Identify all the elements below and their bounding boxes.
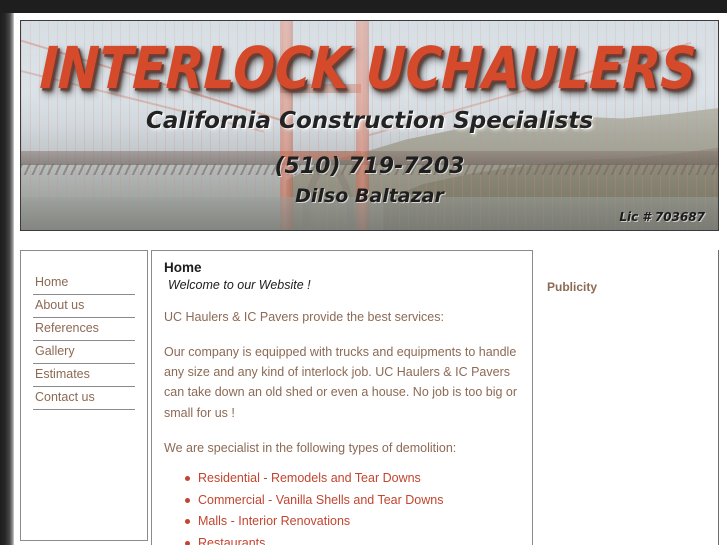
- company-tagline: California Construction Specialists: [21, 108, 718, 134]
- banner-text-group: INTERLOCK UCHAULERS California Construct…: [21, 21, 718, 230]
- list-item: Restaurants: [198, 533, 522, 545]
- paragraph-demolition-intro: We are specialist in the following types…: [164, 438, 522, 458]
- content-row: Home About us References Gallery Estimat…: [20, 250, 719, 545]
- browser-chrome-top-edge: [0, 0, 727, 13]
- browser-chrome-left-edge: [0, 0, 14, 545]
- sidebar-item-references[interactable]: References: [33, 318, 135, 341]
- site-banner: INTERLOCK UCHAULERS California Construct…: [20, 20, 719, 231]
- company-owner-name: Dilso Baltazar: [21, 185, 718, 207]
- welcome-text: Welcome to our Website !: [168, 278, 522, 292]
- sidebar-item-contact-us[interactable]: Contact us: [33, 387, 135, 410]
- publicity-heading: Publicity: [547, 280, 718, 294]
- company-name-heading: INTERLOCK UCHAULERS: [20, 35, 718, 102]
- paragraph-services-intro: UC Haulers & IC Pavers provide the best …: [164, 307, 522, 327]
- sidebar-item-estimates[interactable]: Estimates: [33, 364, 135, 387]
- sidebar-navigation: Home About us References Gallery Estimat…: [20, 250, 148, 541]
- nav-list: Home About us References Gallery Estimat…: [21, 251, 147, 410]
- sidebar-item-gallery[interactable]: Gallery: [33, 341, 135, 364]
- sidebar-item-about-us[interactable]: About us: [33, 295, 135, 318]
- list-item: Commercial - Vanilla Shells and Tear Dow…: [198, 490, 522, 512]
- company-phone-number: (510) 719-7203: [21, 154, 718, 179]
- page-title: Home: [164, 259, 522, 277]
- demolition-types-list: Residential - Remodels and Tear Downs Co…: [164, 468, 522, 545]
- publicity-sidebar: Publicity: [533, 250, 719, 545]
- list-item: Residential - Remodels and Tear Downs: [198, 468, 522, 490]
- company-license-number: Lic # 703687: [619, 210, 705, 224]
- web-page: INTERLOCK UCHAULERS California Construct…: [14, 13, 727, 545]
- main-content-panel: Home Welcome to our Website ! UC Haulers…: [151, 250, 533, 545]
- sidebar-item-home[interactable]: Home: [33, 275, 135, 295]
- paragraph-company-description: Our company is equipped with trucks and …: [164, 342, 522, 423]
- list-item: Malls - Interior Renovations: [198, 511, 522, 533]
- browser-viewport: INTERLOCK UCHAULERS California Construct…: [0, 0, 727, 545]
